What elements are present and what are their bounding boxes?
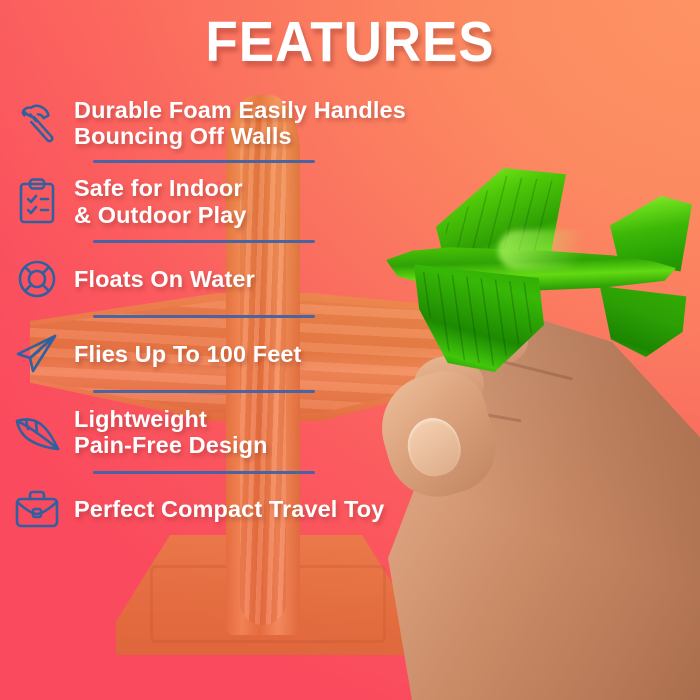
feature-label: Perfect Compact Travel Toy: [74, 496, 384, 522]
feature-row-travel-toy: Perfect Compact Travel Toy: [0, 474, 700, 544]
briefcase-icon: [0, 488, 74, 530]
page-title: FEATURES: [25, 14, 676, 71]
paper-airplane-icon: [0, 332, 74, 376]
clipboard-checklist-icon: [0, 177, 74, 227]
feature-label: Lightweight Pain-Free Design: [74, 406, 268, 459]
feature-row-lightweight: Lightweight Pain-Free Design: [0, 393, 700, 471]
life-ring-icon: [0, 255, 74, 303]
feature-row-floats: Floats On Water: [0, 243, 700, 315]
hammer-icon: [0, 100, 74, 146]
feature-label: Safe for Indoor & Outdoor Play: [74, 175, 246, 228]
feature-row-durable-foam: Durable Foam Easily Handles Bouncing Off…: [0, 86, 700, 160]
feature-label: Flies Up To 100 Feet: [74, 341, 302, 367]
feature-label: Durable Foam Easily Handles Bouncing Off…: [74, 97, 406, 150]
feature-label: Floats On Water: [74, 266, 255, 292]
infographic-canvas: FEATURES Durable Foam Easily Handles Bou…: [0, 0, 700, 700]
feather-icon: [0, 411, 74, 453]
features-list: Durable Foam Easily Handles Bouncing Off…: [0, 86, 700, 544]
feature-row-safe-play: Safe for Indoor & Outdoor Play: [0, 163, 700, 240]
feature-row-flies-100-feet: Flies Up To 100 Feet: [0, 318, 700, 390]
